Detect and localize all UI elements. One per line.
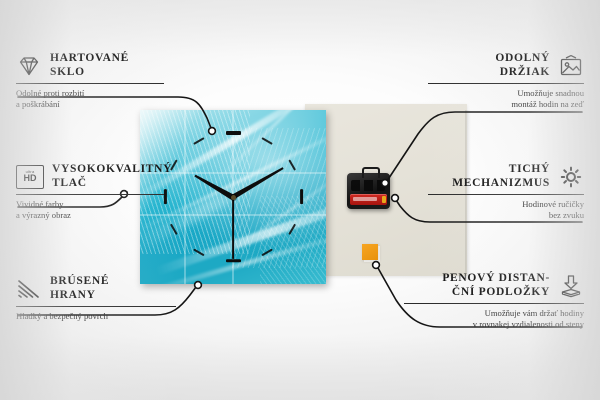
foam-pad-arrow-icon	[558, 274, 584, 298]
divider	[16, 306, 176, 307]
feature-title: PENOVÝ DISTAN- ČNÍ PODLOŽKY	[442, 272, 550, 299]
feature-header: ODOLNÝ DRŽIAK	[428, 52, 584, 79]
feature-title: VYSOKOKVALITNÝ TLAČ	[52, 163, 172, 190]
hd-badge-main-label: HD	[24, 174, 37, 183]
divider	[428, 83, 584, 84]
feature-subtitle: Hodinové ručičky bez zvuku	[428, 199, 584, 221]
feature-polished-edges: BRÚSENÉ HRANY Hladký a bezpečný povrch	[16, 275, 176, 322]
feature-header: ultra HD VYSOKOKVALITNÝ TLAČ	[16, 163, 164, 190]
feature-subtitle: Odolné proti rozbití a poškrábání	[16, 88, 164, 110]
connector-dot-left-1	[209, 128, 216, 135]
feature-tempered-glass: HARTOVANÉ SKLO Odolné proti rozbití a po…	[16, 52, 164, 110]
divider	[404, 303, 584, 304]
ultra-hd-badge-icon: ultra HD	[16, 165, 44, 189]
feature-subtitle: Umožňuje snadnou montáž hodin na zeď	[428, 88, 584, 110]
connector-dot-right-1	[382, 180, 389, 187]
brushed-edges-icon	[16, 277, 42, 301]
feature-header: HARTOVANÉ SKLO	[16, 52, 164, 79]
picture-frame-hanger-icon	[558, 54, 584, 78]
feature-title: ODOLNÝ DRŽIAK	[495, 52, 550, 79]
feature-subtitle: Umožňuje vám držať hodiny v rovnakej vzd…	[404, 308, 584, 330]
connector-dot-right-2	[392, 195, 399, 202]
divider	[16, 194, 164, 195]
connector-dot-right-3	[373, 262, 380, 269]
feature-foam-spacers: PENOVÝ DISTAN- ČNÍ PODLOŽKY Umožňuje vám…	[404, 272, 584, 330]
feature-title: TICHÝ MECHANIZMUS	[452, 163, 550, 190]
feature-subtitle: Hladký a bezpečný povrch	[16, 311, 176, 322]
feature-durable-hanger: ODOLNÝ DRŽIAK Umožňuje snadnou montáž ho…	[428, 52, 584, 110]
feature-subtitle: Vividné farby a výrazný obraz	[16, 199, 164, 221]
diamond-icon	[16, 54, 42, 78]
gear-icon	[558, 165, 584, 189]
divider	[16, 83, 164, 84]
feature-hd-print: ultra HD VYSOKOKVALITNÝ TLAČ Vividné far…	[16, 163, 164, 221]
feature-header: TICHÝ MECHANIZMUS	[428, 163, 584, 190]
divider	[428, 194, 584, 195]
feature-title: BRÚSENÉ HRANY	[50, 275, 109, 302]
feature-title: HARTOVANÉ SKLO	[50, 52, 129, 79]
infographic-canvas: HARTOVANÉ SKLO Odolné proti rozbití a po…	[0, 0, 600, 400]
connector-dot-left-3	[195, 282, 202, 289]
feature-header: PENOVÝ DISTAN- ČNÍ PODLOŽKY	[404, 272, 584, 299]
feature-header: BRÚSENÉ HRANY	[16, 275, 176, 302]
feature-silent-mechanism: TICHÝ MECHANIZMUS Hodinové ručičky bez z…	[428, 163, 584, 221]
